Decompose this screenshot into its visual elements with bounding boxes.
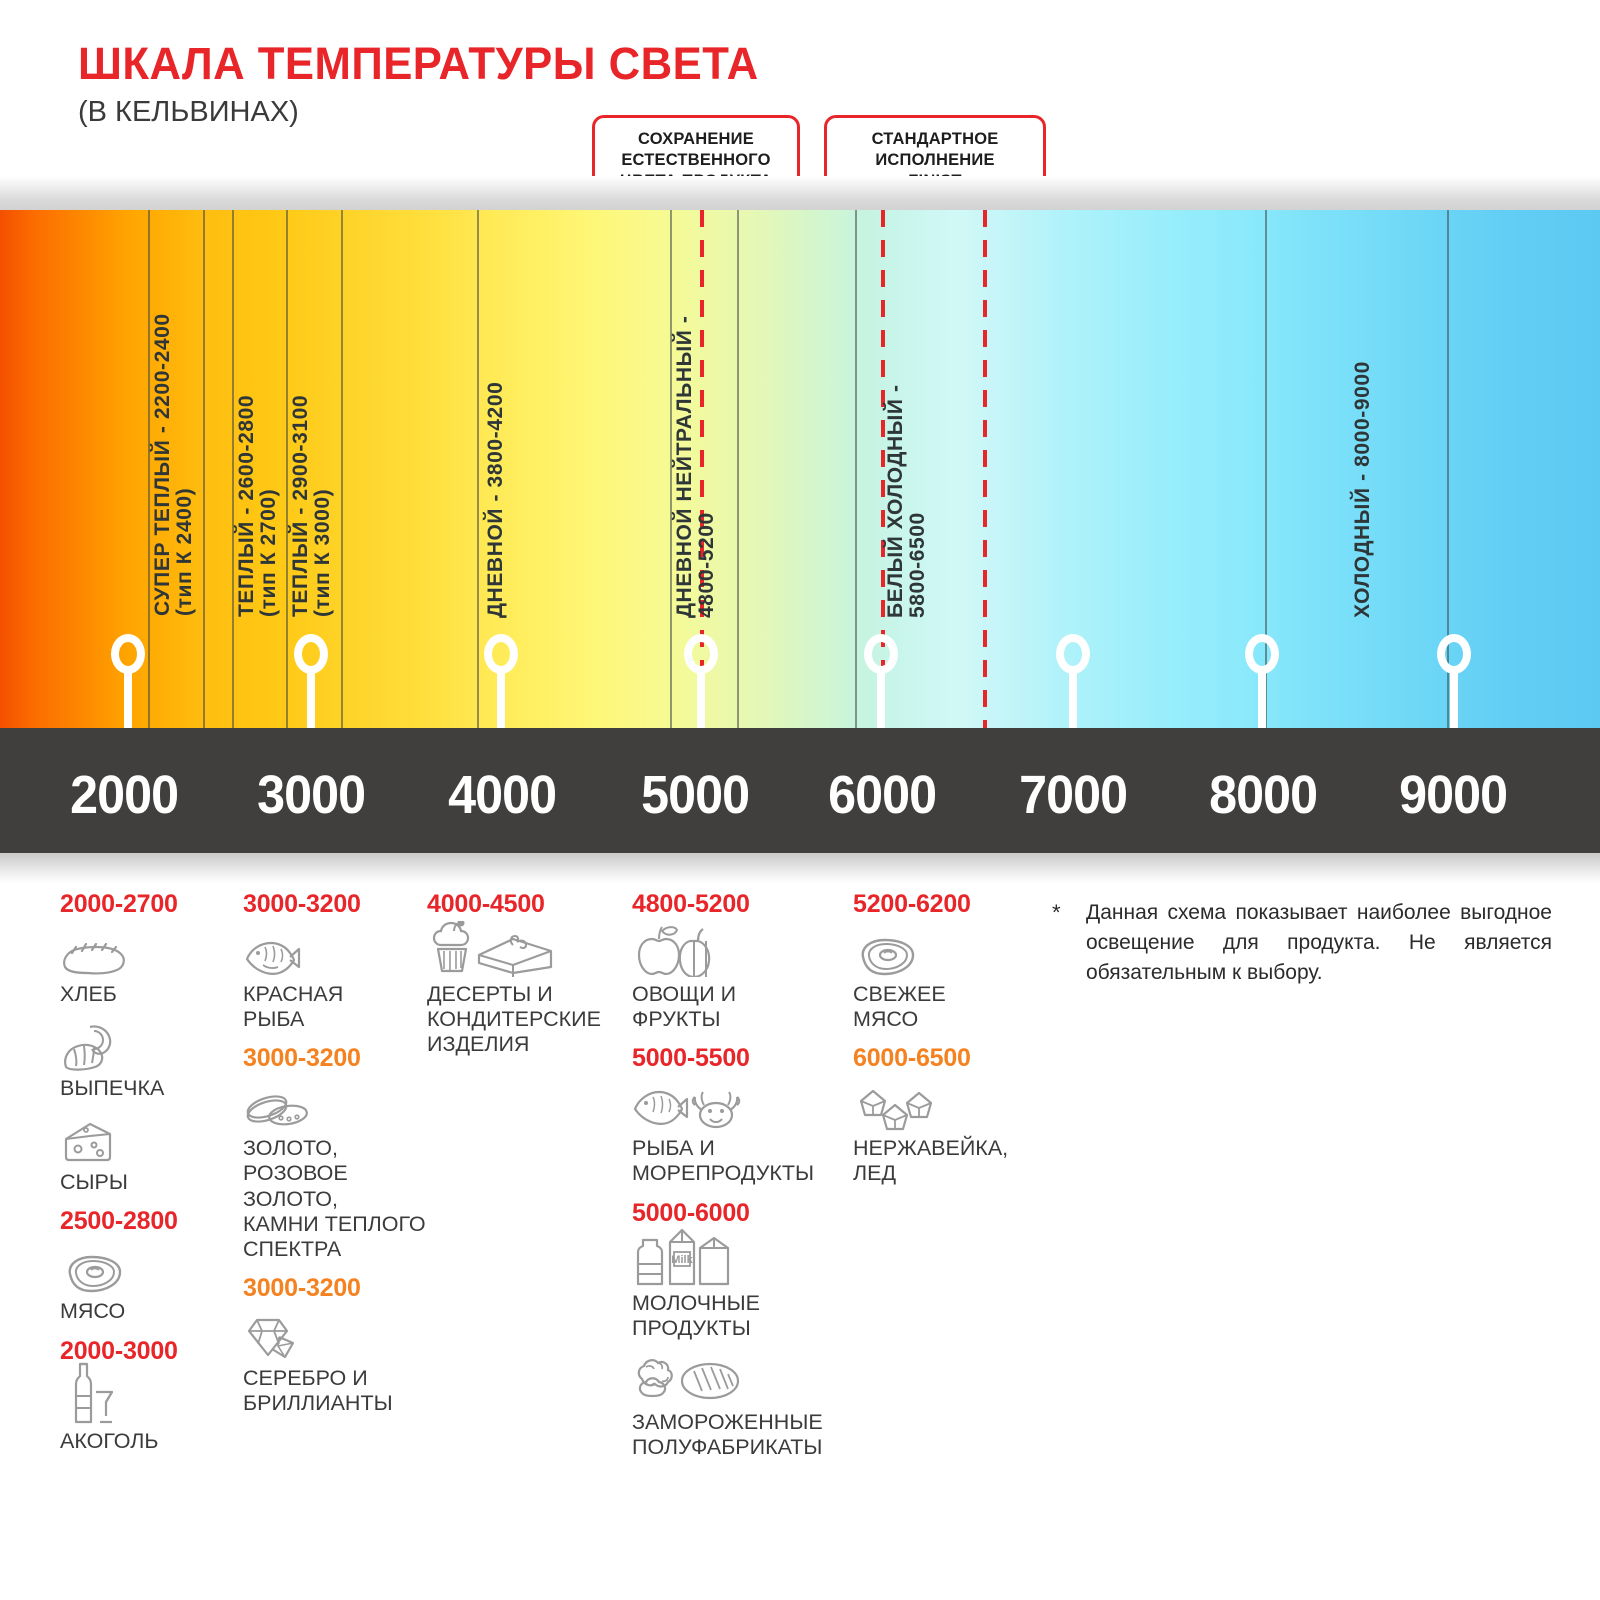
legend-range-label: 4000-4500 (427, 890, 622, 919)
legend-item: ВЫПЕЧКА (60, 1019, 230, 1101)
legend-item: МЯСО (60, 1242, 230, 1324)
band-label-white-cold: БЕЛЫЙ ХОЛОДНЫЙ - 5800-6500 (885, 320, 929, 618)
alcohol-icon (60, 1372, 230, 1424)
legend-item-label: ЗАМОРОЖЕННЫЕ ПОЛУФАБРИКАТЫ (632, 1410, 847, 1460)
tick-label-6000: 6000 (828, 764, 936, 826)
fruit-vegetable-icon (632, 925, 847, 977)
marker-ring-icon (864, 634, 898, 674)
legend-group: 3000-3200КРАСНАЯ РЫБА (243, 890, 428, 1032)
segment-divider (286, 210, 288, 728)
legend-item: СЕРЕБРО И БРИЛЛИАНТЫ (243, 1309, 428, 1416)
legend-group: 6000-6500НЕРЖАВЕЙКА, ЛЕД (853, 1044, 1038, 1186)
tick-label-5000: 5000 (641, 764, 749, 826)
marker-ring-icon (1437, 634, 1471, 674)
tick-label-4000: 4000 (448, 764, 556, 826)
legend-item-label: МЯСО (60, 1299, 230, 1324)
legend-group: 3000-3200ЗОЛОТО, РОЗОВОЕ ЗОЛОТО, КАМНИ Т… (243, 1044, 428, 1262)
legend-item: КРАСНАЯ РЫБА (243, 925, 428, 1032)
legend-item: ХЛЕБ (60, 925, 230, 1007)
legend-range-label: 4800-5200 (632, 890, 847, 919)
band-label-warm-2700: ТЕПЛЫЙ - 2600-2800 (тип К 2700) (236, 345, 280, 617)
segment-divider (148, 210, 150, 728)
legend-item: ДЕСЕРТЫ И КОНДИТЕРСКИЕ ИЗДЕЛИЯ (427, 925, 622, 1057)
legend-column-2: 3000-3200КРАСНАЯ РЫБА3000-3200ЗОЛОТО, РО… (243, 890, 428, 1428)
marker-ring-icon (1245, 634, 1279, 674)
seafood-icon (632, 1079, 847, 1131)
legend-item: ОВОЩИ И ФРУКТЫ (632, 925, 847, 1032)
segment-divider (232, 210, 234, 728)
tick-label-8000: 8000 (1209, 764, 1317, 826)
legend-item-label: СЫРЫ (60, 1170, 230, 1195)
legend-range-label: 5200-6200 (853, 890, 1038, 919)
legend-item-label: АКОГОЛЬ (60, 1429, 230, 1454)
legend-item-label: КРАСНАЯ РЫБА (243, 982, 428, 1032)
legend-range-label: 5000-5500 (632, 1044, 847, 1073)
segment-divider (341, 210, 343, 728)
bread-icon (60, 925, 230, 977)
spectrum-top-shadow (0, 176, 1600, 210)
band-label-cold: ХОЛОДНЫЙ - 8000-9000 (1352, 308, 1374, 618)
legend-column-1: 2000-2700ХЛЕБВЫПЕЧКАСЫРЫ2500-2800МЯСО200… (60, 890, 230, 1466)
dairy-icon: Milk (632, 1234, 847, 1286)
legend-item: MilkМОЛОЧНЫЕ ПРОДУКТЫ (632, 1234, 847, 1341)
legend-column-4: 4800-5200ОВОЩИ И ФРУКТЫ5000-5500РЫБА И М… (632, 890, 847, 1472)
steak-icon (60, 1242, 230, 1294)
marker-ring-icon (484, 634, 518, 674)
legend-item-label: РЫБА И МОРЕПРОДУКТЫ (632, 1136, 847, 1186)
scalebar-bottom-shadow (0, 853, 1600, 883)
boundary-line-6500 (983, 210, 987, 728)
legend-item-label: ДЕСЕРТЫ И КОНДИТЕРСКИЕ ИЗДЕЛИЯ (427, 982, 622, 1057)
legend-item-label: СВЕЖЕЕ МЯСО (853, 982, 1038, 1032)
band-label-warm-3000: ТЕПЛЫЙ - 2900-3100 (тип К 3000) (290, 345, 334, 617)
legend-group: 5200-6200СВЕЖЕЕ МЯСО (853, 890, 1038, 1032)
band-label-daylight-neutral: ДНЕВНОЙ НЕЙТРАЛЬНЫЙ - 4800-5200 (674, 246, 718, 618)
legend-item: ЗОЛОТО, РОЗОВОЕ ЗОЛОТО, КАМНИ ТЕПЛОГО СП… (243, 1079, 428, 1262)
frozen-food-icon (632, 1353, 847, 1405)
rings-icon (243, 1079, 428, 1131)
segment-divider (737, 210, 739, 728)
legend-item: РЫБА И МОРЕПРОДУКТЫ (632, 1079, 847, 1186)
diamond-icon (243, 1309, 428, 1361)
legend-group: 5000-6000MilkМОЛОЧНЫЕ ПРОДУКТЫЗАМОРОЖЕНН… (632, 1199, 847, 1461)
page-subtitle: (В КЕЛЬВИНАХ) (78, 96, 299, 129)
legend-group: 2000-2700ХЛЕБВЫПЕЧКАСЫРЫ (60, 890, 230, 1195)
dessert-icon (427, 925, 622, 977)
legend-range-label: 3000-3200 (243, 1274, 428, 1303)
marker-ring-icon (684, 634, 718, 674)
legend-item: СВЕЖЕЕ МЯСО (853, 925, 1038, 1032)
tick-label-7000: 7000 (1019, 764, 1127, 826)
fish-icon (243, 925, 428, 977)
legend-group: 2500-2800МЯСО (60, 1207, 230, 1324)
footnote-text: Данная схема показывает наиболее выгодно… (1086, 898, 1552, 987)
marker-ring-icon (111, 634, 145, 674)
footnote: Данная схема показывает наиболее выгодно… (1052, 898, 1552, 987)
tick-label-9000: 9000 (1399, 764, 1507, 826)
legend-item-label: ЗОЛОТО, РОЗОВОЕ ЗОЛОТО, КАМНИ ТЕПЛОГО СП… (243, 1136, 428, 1262)
legend-item: СЫРЫ (60, 1113, 230, 1195)
legend-group: 4800-5200ОВОЩИ И ФРУКТЫ (632, 890, 847, 1032)
ice-cubes-icon (853, 1079, 1038, 1131)
legend-item: ЗАМОРОЖЕННЫЕ ПОЛУФАБРИКАТЫ (632, 1353, 847, 1460)
legend-group: 5000-5500РЫБА И МОРЕПРОДУКТЫ (632, 1044, 847, 1186)
legend-group: 2000-3000АКОГОЛЬ (60, 1337, 230, 1454)
legend-item-label: ХЛЕБ (60, 982, 230, 1007)
marker-ring-icon (294, 634, 328, 674)
legend-item: НЕРЖАВЕЙКА, ЛЕД (853, 1079, 1038, 1186)
band-label-super-warm: СУПЕР ТЕПЛЫЙ - 2200-2400 (тип К 2400) (152, 248, 196, 616)
segment-divider (477, 210, 479, 728)
croissant-icon (60, 1019, 230, 1071)
legend-range-label: 3000-3200 (243, 1044, 428, 1073)
segment-divider (855, 210, 857, 728)
legend-group: 3000-3200СЕРЕБРО И БРИЛЛИАНТЫ (243, 1274, 428, 1416)
band-label-daylight: ДНЕВНОЙ - 3800-4200 (485, 330, 507, 618)
segment-divider (670, 210, 672, 728)
cheese-icon (60, 1113, 230, 1165)
kelvin-scale-bar (0, 728, 1600, 853)
tick-label-3000: 3000 (257, 764, 365, 826)
tick-label-2000: 2000 (70, 764, 178, 826)
svg-text:Milk: Milk (671, 1254, 693, 1266)
legend-item-label: НЕРЖАВЕЙКА, ЛЕД (853, 1136, 1038, 1186)
legend-range-label: 6000-6500 (853, 1044, 1038, 1073)
legend-range-label: 2000-2700 (60, 890, 230, 919)
legend-column-3: 4000-4500ДЕСЕРТЫ И КОНДИТЕРСКИЕ ИЗДЕЛИЯ (427, 890, 622, 1069)
marker-ring-icon (1056, 634, 1090, 674)
segment-divider (203, 210, 205, 728)
legend-item-label: СЕРЕБРО И БРИЛЛИАНТЫ (243, 1366, 428, 1416)
legend-item-label: ВЫПЕЧКА (60, 1076, 230, 1101)
legend-item-label: ОВОЩИ И ФРУКТЫ (632, 982, 847, 1032)
legend-group: 4000-4500ДЕСЕРТЫ И КОНДИТЕРСКИЕ ИЗДЕЛИЯ (427, 890, 622, 1057)
legend-item: АКОГОЛЬ (60, 1372, 230, 1454)
legend-range-label: 2500-2800 (60, 1207, 230, 1236)
fresh-meat-icon (853, 925, 1038, 977)
legend-item-label: МОЛОЧНЫЕ ПРОДУКТЫ (632, 1291, 847, 1341)
legend-column-5: 5200-6200СВЕЖЕЕ МЯСО6000-6500НЕРЖАВЕЙКА,… (853, 890, 1038, 1199)
legend-range-label: 3000-3200 (243, 890, 428, 919)
page-title: ШКАЛА ТЕМПЕРАТУРЫ СВЕТА (78, 38, 759, 90)
